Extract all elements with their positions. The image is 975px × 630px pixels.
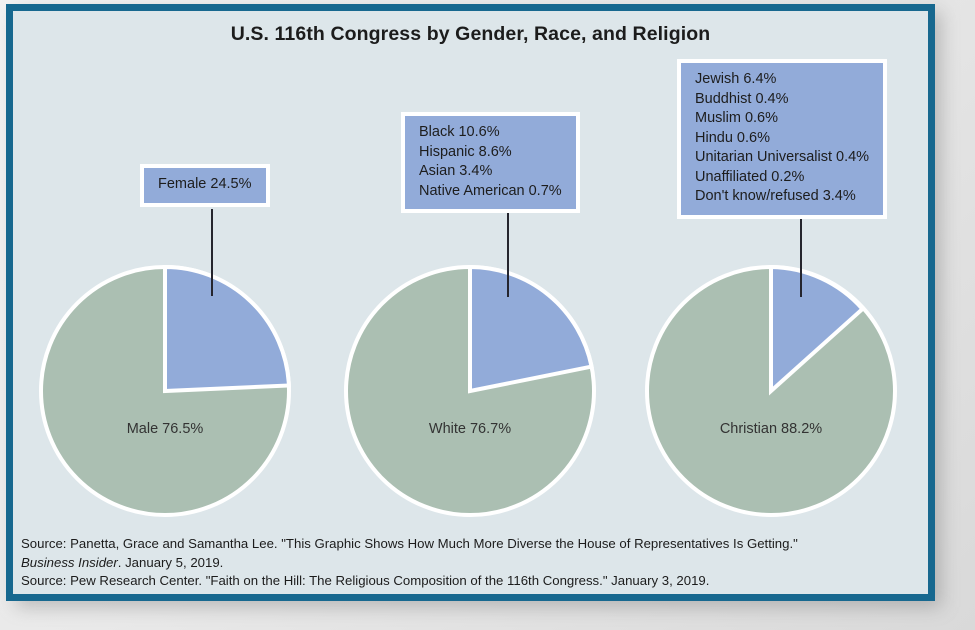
- callout-line: Muslim 0.6%: [695, 109, 869, 129]
- pie-inside-label-race: White 76.7%: [429, 421, 511, 437]
- callout-line: Unaffiliated 0.2%: [695, 168, 869, 188]
- pie-slice-female: [165, 267, 289, 391]
- callout-box-gender: Female 24.5%: [140, 164, 270, 207]
- pie-chart-race: White 76.7%: [346, 267, 594, 515]
- callout-line: Hispanic 8.6%: [419, 143, 562, 163]
- source-line-1: Source: Panetta, Grace and Samantha Lee.…: [21, 535, 921, 554]
- leader-line-race: [507, 210, 509, 297]
- callout-box-race: Black 10.6% Hispanic 8.6% Asian 3.4% Nat…: [401, 112, 580, 213]
- callout-line: Unitarian Universalist 0.4%: [695, 148, 869, 168]
- source-line-3: Source: Pew Research Center. "Faith on t…: [21, 572, 921, 591]
- callout-line: Hindu 0.6%: [695, 129, 869, 149]
- source-publication-name: Business Insider: [21, 555, 118, 570]
- source-citations: Source: Panetta, Grace and Samantha Lee.…: [21, 535, 921, 591]
- pie-inside-label-religion: Christian 88.2%: [720, 421, 822, 437]
- callout-line: Asian 3.4%: [419, 162, 562, 182]
- callout-line: Jewish 6.4%: [695, 70, 869, 90]
- callout-line: Female 24.5%: [158, 175, 252, 195]
- leader-line-gender: [211, 209, 213, 296]
- callout-line: Don't know/refused 3.4%: [695, 187, 869, 207]
- page-background: U.S. 116th Congress by Gender, Race, and…: [0, 0, 975, 630]
- source-line-2: Business Insider. January 5, 2019.: [21, 554, 921, 573]
- pie-chart-gender: Male 76.5%: [41, 267, 289, 515]
- pie-chart-religion: Christian 88.2%: [647, 267, 895, 515]
- pie-inside-label-gender: Male 76.5%: [127, 421, 204, 437]
- callout-line: Native American 0.7%: [419, 182, 562, 202]
- callout-box-religion: Jewish 6.4% Buddhist 0.4% Muslim 0.6% Hi…: [677, 59, 887, 219]
- callout-line: Black 10.6%: [419, 123, 562, 143]
- leader-line-religion: [800, 210, 802, 297]
- figure-panel: U.S. 116th Congress by Gender, Race, and…: [13, 11, 928, 594]
- callout-line: Buddhist 0.4%: [695, 90, 869, 110]
- figure-frame: U.S. 116th Congress by Gender, Race, and…: [6, 4, 935, 601]
- source-publication-date: . January 5, 2019.: [118, 555, 224, 570]
